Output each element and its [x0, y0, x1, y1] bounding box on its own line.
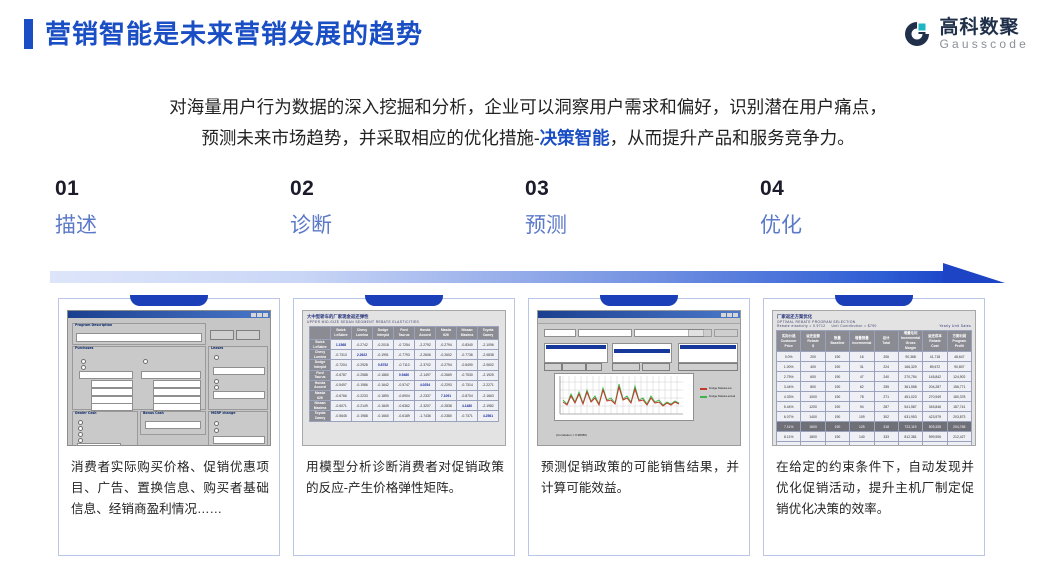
- radio-no-subvention[interactable]: [214, 355, 219, 360]
- table-cell: 361,558: [898, 382, 922, 392]
- matrix-cell: -0.6189: [394, 411, 415, 421]
- card-tab: [365, 295, 443, 306]
- close-icon: [263, 313, 268, 317]
- intro-line-1: 对海量用户行为数据的深入挖掘和分析，企业可以洞察用户需求和偏好，识别潜在用户痛点…: [169, 97, 887, 117]
- window-titlebar: [68, 311, 270, 318]
- output-list[interactable]: [678, 343, 738, 363]
- card-figure-optimal-table: 厂家返还方案优化 OPTIMAL REBATE PROGRAM SELECTIO…: [772, 310, 976, 446]
- matrix-cell: -2.3702: [415, 360, 436, 370]
- models-list[interactable]: [612, 343, 672, 363]
- matrix-cell: -0.2380: [436, 411, 457, 421]
- minimize-icon: [721, 313, 726, 317]
- step-number: 01: [55, 178, 255, 199]
- window-titlebar: [538, 311, 740, 318]
- dealer-cash-input[interactable]: [77, 443, 121, 446]
- matrix-cell: -0.7736: [457, 350, 478, 360]
- table-cell: 599,906: [923, 432, 947, 442]
- table-cell: 0.0%: [777, 352, 801, 362]
- table-row: Mazda626-0.6766-0.2233-0.1890-0.6904-2.2…: [310, 390, 499, 400]
- table-cell: 451,023: [898, 392, 922, 402]
- table-cell: 318: [874, 422, 898, 432]
- matrix-cell: -2.1663: [478, 390, 499, 400]
- card-caption: 预测促销政策的可能销售结果，并计算可能效益。: [541, 457, 739, 499]
- step-item-1: 01 描述: [55, 178, 255, 236]
- table-row: 9.11%2000190156349902,640697,798204,801: [777, 442, 972, 447]
- table-cell: 16: [850, 352, 874, 362]
- intro-line-2-suffix: ，从而提升产品和服务竞争力。: [610, 128, 855, 148]
- matrix-cell: -0.2233: [352, 390, 373, 400]
- table-col-header: 返还金额Rebate$: [801, 331, 825, 352]
- radio-rebate-cash-inc[interactable]: [78, 426, 83, 431]
- matrix-cell: -0.7204: [331, 360, 352, 370]
- radio-cash-only[interactable]: [78, 420, 83, 425]
- matrix-cell: -0.2588: [352, 370, 373, 380]
- table-cell: 89,672: [923, 362, 947, 372]
- card-tab: [600, 295, 678, 306]
- add-class-button[interactable]: [688, 329, 712, 337]
- table-row: 6.07%1400190109302631,953423,979203,873: [777, 412, 972, 422]
- table-cell: 800: [801, 382, 825, 392]
- table-row: 7.11%1600190125318722,119509,335204,768: [777, 422, 972, 432]
- matrix-row-header: DodgeIntrepid: [310, 360, 331, 370]
- matrix-cell: -2.2792: [415, 340, 436, 350]
- matrix-row-header: ChevyLumina: [310, 350, 331, 360]
- table-cell: 190: [825, 432, 849, 442]
- matrix-cell: -2.2606: [415, 350, 436, 360]
- table-cell: 204,768: [947, 422, 971, 432]
- matrix-cell: -2.2271: [478, 380, 499, 390]
- group-core-incentives: Core incentives: [270, 323, 271, 410]
- logo-mark-icon: [902, 19, 932, 49]
- step-item-3: 03 预测: [525, 178, 725, 236]
- table-cell: 2000: [801, 442, 825, 447]
- card-figure-simulation: Dodge Dakota est. Dodge Dakota actual (C…: [537, 310, 741, 446]
- table-row: NissanMaxima-0.6071-0.2149-0.1849-0.6362…: [310, 401, 499, 411]
- radio-no-rebate[interactable]: [81, 359, 86, 364]
- matrix-col-header: NissanMaxima: [457, 327, 478, 340]
- card-figure-dialog: Program Description Purchases: [67, 310, 271, 446]
- legacy-dialog-window: Program Description Purchases: [67, 310, 271, 446]
- radio-apr[interactable]: [214, 385, 219, 390]
- table-cell: 90,807: [947, 362, 971, 372]
- group-program-description: Program Description: [72, 323, 206, 345]
- matrix-title-cn: 大中型轿车的厂家现金返还弹性: [303, 311, 505, 320]
- card-tab: [835, 295, 913, 306]
- matrix-cell: -0.1988: [352, 411, 373, 421]
- step-item-4: 04 优化: [760, 178, 960, 236]
- table-cell: 203,873: [947, 412, 971, 422]
- card-figure-matrix: 大中型轿车的厂家现金返还弹性 UPPER MID-SIZE SEDAN SEGM…: [302, 310, 506, 446]
- matrix-cell: -0.7314: [457, 380, 478, 390]
- group-title: Bonus Cash: [143, 411, 164, 415]
- table-cell: 1800: [801, 432, 825, 442]
- card-optimize[interactable]: 厂家返还方案优化 OPTIMAL REBATE PROGRAM SELECTIO…: [763, 298, 985, 556]
- table-cell: 125: [850, 422, 874, 432]
- matrix-cell: -0.1890: [373, 390, 394, 400]
- table-cell: 187,741: [947, 402, 971, 412]
- matrix-cell: -0.1660: [373, 411, 394, 421]
- step-label: 诊断: [290, 215, 490, 236]
- save-button[interactable]: [210, 330, 234, 340]
- table-cell: 190: [825, 352, 849, 362]
- table-cell: 349: [874, 442, 898, 447]
- step-number: 02: [290, 178, 490, 199]
- step-label: 描述: [55, 215, 255, 236]
- meta-contribution: Unit Contribution = $790: [831, 324, 876, 328]
- maximize-icon: [257, 313, 262, 317]
- matrix-cell: -0.5645: [331, 411, 352, 421]
- matrix-title-en: UPPER MID-SIZE SEDAN SEGMENT REBATE ELAS…: [303, 320, 505, 324]
- table-row: 1.00%40019031224166,32989,67290,807: [777, 362, 972, 372]
- table-cell: 8.11%: [777, 432, 801, 442]
- program-description-input[interactable]: [76, 333, 202, 342]
- matrix-cell: -0.7254: [394, 340, 415, 350]
- matrix-row-header: HondaAccord: [310, 380, 331, 390]
- table-cell: 94: [850, 402, 874, 412]
- simulation-selected-item[interactable]: [546, 345, 606, 349]
- table-row: 0.0%2001901620690,36841,71848,647: [777, 352, 972, 362]
- table-cell: 1400: [801, 412, 825, 422]
- bonus-cash-input[interactable]: [145, 421, 201, 429]
- graph-button[interactable]: [678, 363, 738, 371]
- step-number: 04: [760, 178, 960, 199]
- combo-value-input[interactable]: [141, 371, 201, 379]
- table-cell: 7.11%: [777, 422, 801, 432]
- table-cell: 200: [801, 352, 825, 362]
- term-24-input[interactable]: [91, 380, 133, 388]
- close-button[interactable]: [236, 330, 260, 340]
- table-cell: 423,979: [923, 412, 947, 422]
- term-36-input[interactable]: [91, 388, 133, 396]
- table-cell: 509,335: [923, 422, 947, 432]
- group-dealer-cash: Dealer Cash: [72, 411, 138, 446]
- msrp-change-input[interactable]: [213, 436, 265, 444]
- matrix-cell: -2.0838: [478, 350, 499, 360]
- title-accent-bar: [24, 19, 33, 49]
- page-title: 营销智能是未来营销发展的趋势: [24, 19, 423, 49]
- card-tab: [130, 295, 208, 306]
- radio-msrp-percent[interactable]: [214, 428, 219, 433]
- table-meta: Rebate elasticity = 0.9712 Unit Contribu…: [773, 324, 975, 328]
- matrix-cell: 0.9480: [394, 370, 415, 380]
- table-col-header: 增量销量Incremental: [850, 331, 874, 352]
- table-cell: 156,771: [947, 382, 971, 392]
- term-60-input[interactable]: [91, 403, 133, 411]
- table-cell: 124,902: [947, 372, 971, 382]
- remove-button[interactable]: [562, 363, 586, 371]
- matrix-cell: -0.6904: [394, 390, 415, 400]
- term-60-rate-input[interactable]: [153, 403, 201, 411]
- meta-elasticity: Rebate elasticity = 0.9712: [777, 324, 825, 328]
- table-cell: 190: [825, 362, 849, 372]
- table-cell: 255: [874, 382, 898, 392]
- radio-not-offered[interactable]: [143, 359, 148, 364]
- table-cell: 902,640: [898, 442, 922, 447]
- matrix-cell: -0.2794: [436, 360, 457, 370]
- arrow-head: [943, 263, 1005, 283]
- table-cell: 333: [874, 432, 898, 442]
- arrow-bar: [50, 271, 950, 283]
- table-cell: 78: [850, 392, 874, 402]
- table-cell: 145,842: [923, 372, 947, 382]
- maximize-icon: [727, 313, 732, 317]
- select-all-button[interactable]: [612, 363, 640, 371]
- table-col-header: 返还成本RebateCost: [923, 331, 947, 352]
- table-cell: 240: [874, 372, 898, 382]
- matrix-cell: -0.7530: [457, 370, 478, 380]
- table-cell: 270,754: [898, 372, 922, 382]
- table-title-cn: 厂家返还方案优化: [773, 311, 975, 320]
- matrix-cell: -0.2669: [436, 370, 457, 380]
- table-cell: 4.33%: [777, 392, 801, 402]
- matrix-cell: -2.1925: [478, 370, 499, 380]
- table-row: 2.75%60019047240270,754145,842124,902: [777, 372, 972, 382]
- table-cell: 180,378: [947, 392, 971, 402]
- table-cell: 204,287: [923, 382, 947, 392]
- lease-cash-input[interactable]: [213, 367, 265, 375]
- matrix-cell: -0.1642: [373, 380, 394, 390]
- logo-name-cn: 高科数聚: [939, 18, 1029, 38]
- matrix-cell: -1.7436: [415, 411, 436, 421]
- card-diagnose[interactable]: 大中型轿车的厂家现金返还弹性 UPPER MID-SIZE SEDAN SEGM…: [293, 298, 515, 556]
- table-cell: 166,329: [898, 362, 922, 372]
- simulation-window: Dodge Dakota est. Dodge Dakota actual (C…: [537, 310, 741, 446]
- table-cell: 140: [850, 432, 874, 442]
- matrix-cell: -0.5497: [331, 380, 352, 390]
- table-cell: 1200: [801, 402, 825, 412]
- matrix-cell: -0.7371: [457, 411, 478, 421]
- table-cell: 722,119: [898, 422, 922, 432]
- table-cell: 271: [874, 392, 898, 402]
- table-cell: 1000: [801, 392, 825, 402]
- matrix-row-header: BuickLeSabre: [310, 340, 331, 350]
- card-predict[interactable]: Dodge Dakota est. Dodge Dakota actual (C…: [528, 298, 750, 556]
- matrix-cell: -0.2928: [352, 360, 373, 370]
- matrix-cell: -0.2293: [436, 380, 457, 390]
- table-col-header: 实际价格CustomerPrice: [777, 331, 801, 352]
- matrix-row-header: NissanMaxima: [310, 401, 331, 411]
- matrix-cell: -0.7793: [394, 350, 415, 360]
- matrix-cell: 1.1568: [331, 340, 352, 350]
- card-caption: 在给定的约束条件下，自动发现并优化促销活动，提升主机厂制定促销优化决策的效率。: [776, 457, 974, 520]
- matrix-col-header: FordTaurus: [394, 327, 415, 340]
- title-text: 营销智能是未来营销发展的趋势: [45, 21, 423, 47]
- table-cell: 224: [874, 362, 898, 372]
- optimal-rebate-table: 实际价格CustomerPrice返还金额Rebate$数量Baseline增量…: [776, 330, 972, 446]
- table-cell: 41,718: [923, 352, 947, 362]
- matrix-cell: -0.2602: [436, 350, 457, 360]
- table-cell: 287: [874, 402, 898, 412]
- card-describe[interactable]: Program Description Purchases: [58, 298, 280, 556]
- window-body: Program Description Purchases: [68, 318, 270, 324]
- table-cell: 206: [874, 352, 898, 362]
- table-cell: 5.44%: [777, 402, 801, 412]
- table-row: ToyotaCamry-0.5645-0.1988-0.1660-0.6189-…: [310, 411, 499, 421]
- matrix-cell: -2.1096: [478, 340, 499, 350]
- matrix-cell: -2.1982: [478, 401, 499, 411]
- group-title: Program Description: [75, 323, 112, 327]
- table-cell: 697,798: [923, 442, 947, 447]
- table-cell: 190: [825, 412, 849, 422]
- matrix-cell: -2.1497: [415, 370, 436, 380]
- lease-rate-input[interactable]: [213, 391, 265, 399]
- table-cell: 190: [825, 372, 849, 382]
- table-col-header: 总计Total: [874, 331, 898, 352]
- matrix-row-header: ToyotaCamry: [310, 411, 331, 421]
- matrix-cell: -0.6071: [331, 401, 352, 411]
- table-cell: 62: [850, 382, 874, 392]
- table-cell: 600: [801, 372, 825, 382]
- matrix-cell: 7.1091: [436, 390, 457, 400]
- matrix-row-header: FordTaurus: [310, 370, 331, 380]
- table-cell: 812,381: [898, 432, 922, 442]
- group-title: Dealer Cash: [75, 411, 97, 415]
- table-cell: 3.44%: [777, 382, 801, 392]
- table-row: 3.44%80019062255361,558204,287156,771: [777, 382, 972, 392]
- meta-unit-sales: Yearly Unit Sales: [939, 324, 971, 328]
- table-col-header: 增量毛利IncrementalGrossMargin: [898, 331, 922, 352]
- card-list: Program Description Purchases: [0, 296, 1051, 564]
- elasticity-matrix: 大中型轿车的厂家现金返还弹性 UPPER MID-SIZE SEDAN SEGM…: [302, 310, 506, 446]
- group-purchases: Purchases: [72, 346, 206, 410]
- table-row: FordTaurus-0.6787-0.2588-0.18600.9480-2.…: [310, 370, 499, 380]
- models-selected-item[interactable]: [614, 349, 670, 353]
- matrix-cell: -0.1849: [373, 401, 394, 411]
- matrix-cell: -0.2018: [373, 340, 394, 350]
- table-cell: 400: [801, 362, 825, 372]
- purchase-value-input[interactable]: [79, 371, 133, 379]
- simulation-options-list[interactable]: [544, 343, 608, 363]
- matrix-cell: -0.6787: [331, 370, 352, 380]
- matrix-col-header: BuickLeSabre: [331, 327, 352, 340]
- add-button[interactable]: [544, 363, 562, 371]
- matrix-cell: -0.8704: [457, 390, 478, 400]
- table-col-header: 方案利润ProgramProfit: [947, 331, 971, 352]
- matrix-cell: -2.0602: [478, 360, 499, 370]
- matrix-cell: -0.2149: [352, 401, 373, 411]
- table-cell: 48,647: [947, 352, 971, 362]
- close-icon: [733, 313, 738, 317]
- matrix-cell: -0.1991: [373, 350, 394, 360]
- table-row: 5.44%120019094287541,587345,846187,741: [777, 402, 972, 412]
- table-cell: 109: [850, 412, 874, 422]
- logo-name-en: Gausscode: [939, 38, 1029, 51]
- logo-text: 高科数聚 Gausscode: [939, 18, 1029, 51]
- term-36-rate-input[interactable]: [153, 388, 201, 396]
- progress-arrow-icon: [50, 262, 1010, 288]
- table-cell: 47: [850, 372, 874, 382]
- matrix-cell: 4.1480: [457, 401, 478, 411]
- table-row: ChevyLumina-0.73132.2622-0.1991-0.7793-2…: [310, 350, 499, 360]
- legend-swatch-actual: [700, 396, 707, 398]
- intro-highlight: 决策智能: [540, 128, 610, 148]
- edit-button[interactable]: [586, 363, 602, 371]
- simulation-chart: [554, 373, 694, 421]
- radio-no-apr[interactable]: [81, 365, 86, 370]
- table-row: HondaAccord-0.5497-0.1986-0.1642-0.57474…: [310, 380, 499, 390]
- matrix-col-header: ToyotaCamry: [478, 327, 499, 340]
- matrix-cell: -0.6362: [394, 401, 415, 411]
- menu-bar[interactable]: [538, 318, 740, 324]
- table-cell: 302: [874, 412, 898, 422]
- correlation-note: (Correlation = 0.98386): [556, 433, 587, 437]
- group-title: Purchases: [75, 346, 93, 350]
- group-rebate-incentives: Rebate incentives: [270, 411, 271, 446]
- group-title: Leases: [211, 346, 223, 350]
- matrix-cell: -0.8340: [457, 340, 478, 350]
- slide-header: 营销智能是未来营销发展的趋势 高科数聚 Gausscode: [0, 0, 1051, 78]
- matrix-cell: -0.1986: [352, 380, 373, 390]
- matrix-cell: -0.8490: [457, 360, 478, 370]
- card-caption: 用模型分析诊断消费者对促销政策的反应-产生价格弹性矩阵。: [306, 457, 504, 499]
- matrix-cell: -0.1860: [373, 370, 394, 380]
- table-col-header: 数量Baseline: [825, 331, 849, 352]
- table-row: 4.33%100019078271451,023270,949180,378: [777, 392, 972, 402]
- radio-all-cash-inc-lease[interactable]: [78, 432, 83, 437]
- segment-select[interactable]: [578, 329, 632, 337]
- intro-line-2-prefix: 预测未来市场趋势，并采取相应的优化措施-: [201, 128, 539, 148]
- matrix-table: BuickLeSabreChevyLuminaDodgeIntrepidFord…: [309, 326, 499, 422]
- matrix-cell: -0.2838: [436, 401, 457, 411]
- table-cell: 1600: [801, 422, 825, 432]
- group-bonus-cash: Bonus Cash: [140, 411, 206, 435]
- term-24-rate-input[interactable]: [153, 380, 201, 388]
- table-row: BuickLeSabre1.1568-0.2742-0.2018-0.7254-…: [310, 340, 499, 350]
- intro-paragraph: 对海量用户行为数据的深入挖掘和分析，企业可以洞察用户需求和偏好，识别潜在用户痛点…: [48, 92, 1008, 154]
- group-leases: Leases: [208, 346, 268, 410]
- matrix-col-header: HondaAccord: [415, 327, 436, 340]
- radio-money-factor[interactable]: [214, 379, 219, 384]
- table-cell: 2.75%: [777, 372, 801, 382]
- table-cell: 1.00%: [777, 362, 801, 372]
- group-msrp-change: MSRP change: [208, 411, 268, 446]
- retailer-class-select[interactable]: [544, 329, 576, 337]
- matrix-cell: -0.2794: [436, 340, 457, 350]
- output-selected-item[interactable]: [680, 345, 736, 349]
- matrix-cell: 0.8752: [373, 360, 394, 370]
- step-list: 01 描述 02 诊断 03 预测 04 优化: [55, 178, 995, 248]
- table-cell: 31: [850, 362, 874, 372]
- matrix-cell: -0.6766: [331, 390, 352, 400]
- table-cell: 190: [825, 382, 849, 392]
- table-cell: 190: [825, 402, 849, 412]
- step-number: 03: [525, 178, 725, 199]
- matrix-cell: -0.2742: [352, 340, 373, 350]
- matrix-cell: -2.3207: [415, 401, 436, 411]
- group-title: MSRP change: [211, 411, 235, 415]
- table-cell: 190: [825, 392, 849, 402]
- table-cell: 9.11%: [777, 442, 801, 447]
- table-cell: 6.07%: [777, 412, 801, 422]
- matrix-col-header: Mazda626: [436, 327, 457, 340]
- clear-all-button[interactable]: [642, 363, 670, 371]
- table-cell: 190: [825, 442, 849, 447]
- legend-label-estimated: Dodge Dakota est.: [709, 386, 732, 390]
- step-item-2: 02 诊断: [290, 178, 490, 236]
- table-row: DodgeIntrepid-0.7204-0.29280.8752-0.7110…: [310, 360, 499, 370]
- table-cell: 90,368: [898, 352, 922, 362]
- matrix-cell: -0.5747: [394, 380, 415, 390]
- matrix-cell: 4.0254: [415, 380, 436, 390]
- matrix-col-header: ChevyLumina: [352, 327, 373, 340]
- matrix-cell: 2.2622: [352, 350, 373, 360]
- radio-msrp-amount[interactable]: [214, 421, 219, 426]
- table-row: 8.11%1800190140333812,381599,906212,427: [777, 432, 972, 442]
- table-cell: 345,846: [923, 402, 947, 412]
- matrix-cell: -0.7110: [394, 360, 415, 370]
- brand-logo: 高科数聚 Gausscode: [902, 18, 1029, 51]
- reset-button[interactable]: [714, 329, 738, 337]
